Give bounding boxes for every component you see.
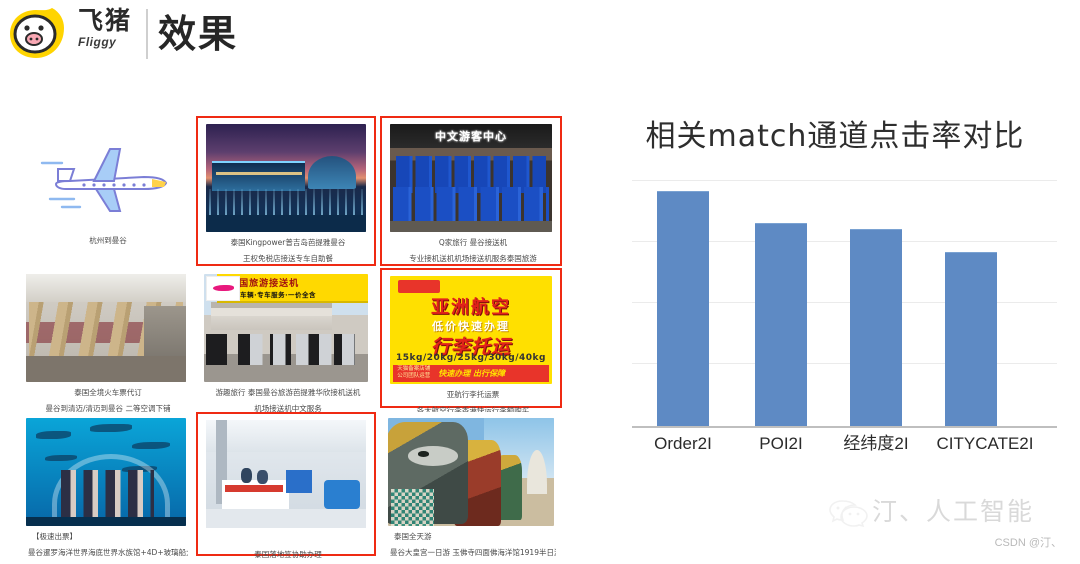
gallery-cell-visa-on-arrival[interactable]: 泰国落地签协助办理	[196, 412, 376, 556]
ad-line1: 亚洲航空	[390, 293, 552, 319]
ad-ribbon-right: 快速办理 出行保障	[430, 368, 505, 379]
airasia-baggage-ad-poster: 亚洲航空 低价快速办理 行李托运 15kg/20kg/25kg/30kg/40k…	[390, 276, 552, 384]
ad-ribbon-left: 天猫备案店铺 公司团队运营	[393, 366, 430, 380]
shop-tag-icon	[398, 280, 440, 293]
cell-caption-line1: 杭州到曼谷	[28, 236, 188, 246]
page-header: 飞猪 Fliggy 效果	[0, 0, 1080, 72]
cell-caption-line1: 泰国落地签协助办理	[208, 550, 368, 560]
cell-caption-line1: 游趣旅行 泰国曼谷旅游芭提雅华欣接机送机	[206, 388, 370, 398]
brand-name-en: Fliggy	[78, 35, 132, 49]
chart-bar[interactable]	[755, 223, 807, 426]
shop-logo-icon	[206, 276, 241, 301]
chart-x-tick-label: Order2I	[628, 432, 738, 456]
chart-x-tick-label: 经纬度2I	[824, 432, 928, 456]
gallery-cell-car-transfer[interactable]: 泰国旅游接送机 ·正规车辆·专车服务·一价全含 游趣旅行 泰国曼谷旅游芭提雅华欣…	[196, 268, 376, 408]
airport-visa-on-arrival-counter-photo	[206, 420, 366, 528]
gallery-cell-kingpower[interactable]: 泰国Kingpower普吉岛芭提雅曼谷 王权免税店接送专车自助餐	[196, 116, 376, 266]
airplane-illustration	[26, 122, 186, 230]
banner-line2: ·正规车辆·专车服务·一价全含	[223, 289, 366, 299]
photo-overlay-text: 中文游客中心	[390, 124, 552, 148]
wechat-icon	[828, 498, 868, 528]
chart-x-tick-label: POI2I	[729, 432, 833, 456]
brand-name-cn: 飞猪	[78, 8, 132, 35]
chart-plot-area	[632, 180, 1057, 428]
train-sleeper-interior-photo	[26, 274, 186, 382]
page-title: 效果	[158, 9, 238, 59]
airport-transfer-cars-photo: 泰国旅游接送机 ·正规车辆·专车服务·一价全含	[204, 274, 368, 382]
cell-caption-line1: Q家旅行 曼谷接送机	[392, 238, 554, 248]
gallery-cell-airasia-baggage[interactable]: 亚洲航空 低价快速办理 行李托运 15kg/20kg/25kg/30kg/40k…	[380, 268, 562, 408]
watermark-text: 汀、人工智能	[872, 496, 1034, 528]
gallery-cell-qjia-transfer[interactable]: 中文游客中心 Q家旅行 曼谷接送机 专业接机送机机场接送机服务泰国旅游	[380, 116, 562, 266]
chart-bar[interactable]	[850, 229, 902, 426]
search-results-gallery: 杭州到曼谷 泰国Kingpower普吉岛芭提雅曼谷 王权免税店接送专车自助餐 中…	[18, 116, 548, 556]
cell-caption-line2: 王权免税店接送专车自助餐	[208, 254, 368, 264]
cell-caption-line2: 专业接机送机机场接送机服务泰国旅游	[392, 254, 554, 264]
gallery-cell-grand-palace-tour[interactable]: 泰国全天游 曼谷大皇宫一日游 玉佛寺四面佛海洋馆1919半日游	[380, 412, 562, 556]
cell-caption-line1: 泰国Kingpower普吉岛芭提雅曼谷	[208, 238, 368, 248]
chart-x-tick-labels: Order2I POI2I 经纬度2I CITYCATE2I	[632, 432, 1057, 458]
chart-bar[interactable]	[945, 252, 997, 426]
watermark: 汀、人工智能 CSDN @汀、	[828, 496, 1068, 556]
ad-ribbon: 天猫备案店铺 公司团队运营 快速办理 出行保障	[393, 365, 549, 382]
chart-x-tick-label: CITYCATE2I	[920, 432, 1050, 456]
cell-caption-line2: 曼谷暹罗海洋世界海底世界水族馆+4D+玻璃船大门票	[28, 548, 188, 558]
chart-title: 相关match通道点击率对比	[600, 118, 1070, 156]
gallery-cell-aquarium[interactable]: 【极速出票】 曼谷暹罗海洋世界海底世界水族馆+4D+玻璃船大门票	[18, 412, 194, 556]
kingpower-mall-fountain-photo	[206, 124, 366, 232]
watermark-credit: CSDN @汀、	[995, 534, 1062, 550]
blue-shirt-guide-team-photo: 中文游客中心	[390, 124, 552, 232]
fliggy-pig-logo-icon	[8, 6, 70, 64]
header-divider	[146, 9, 148, 59]
cell-caption-line1: 泰国全境火车票代订	[28, 388, 188, 398]
cell-caption-line2: 曼谷大皇宫一日游 玉佛寺四面佛海洋馆1919半日游	[390, 548, 556, 558]
sea-life-aquarium-tunnel-photo	[26, 418, 186, 526]
cell-caption-line1: 亚航行李托运票	[392, 390, 554, 400]
chart-x-axis	[632, 426, 1057, 428]
cell-caption-line1: 泰国全天游	[390, 532, 556, 542]
gallery-cell-train-ticket[interactable]: 泰国全境火车票代订 曼谷到清迈/清迈到曼谷 二等空调下铺	[18, 268, 194, 408]
cell-caption-line1: 【极速出票】	[28, 532, 188, 542]
gridline	[632, 180, 1057, 181]
thai-temple-guardian-statues-photo	[388, 418, 554, 526]
banner-line1: 泰国旅游接送机	[229, 276, 365, 289]
click-rate-bar-chart: 相关match通道点击率对比 Order2I POI2I 经纬度2I CITYC…	[600, 96, 1070, 456]
ad-line4: 15kg/20kg/25kg/30kg/40kg	[390, 353, 552, 363]
gallery-cell-flight[interactable]: 杭州到曼谷	[18, 116, 194, 266]
brand-wordmark: 飞猪 Fliggy	[78, 8, 132, 49]
chart-bar[interactable]	[657, 191, 709, 426]
